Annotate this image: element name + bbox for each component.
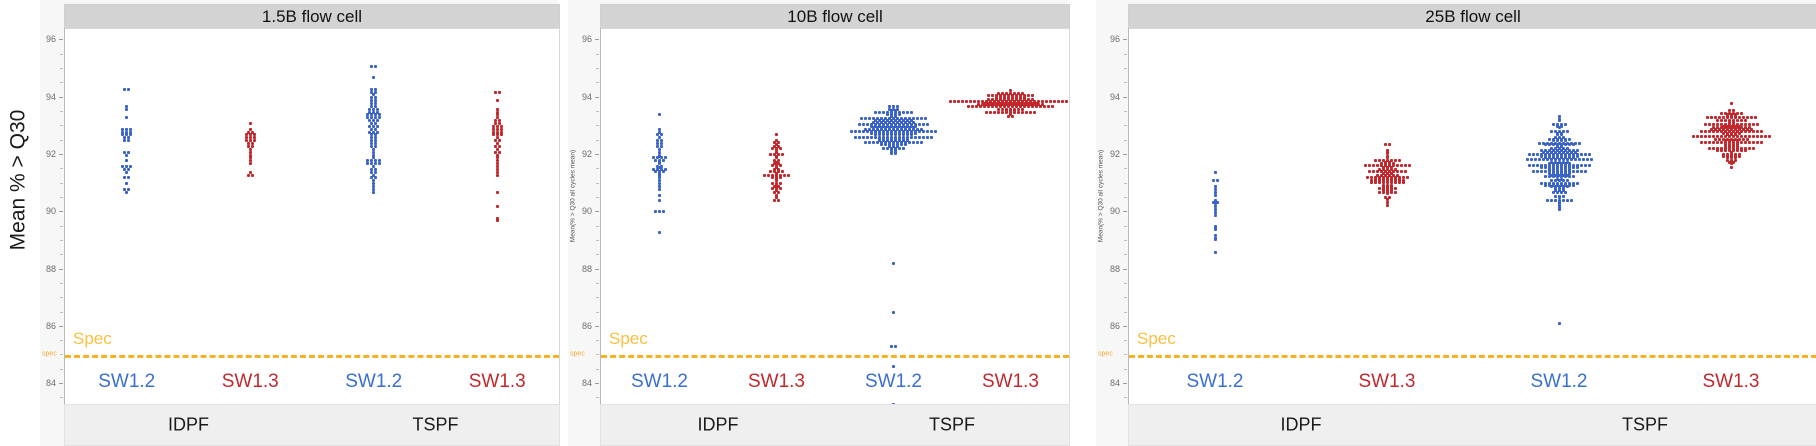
y-tick-mark (59, 97, 63, 98)
data-point (769, 170, 772, 173)
data-point (914, 136, 917, 139)
y-axis-title: Mean % > Q30 (0, 0, 40, 360)
data-point (1578, 158, 1581, 161)
y-tick-minor (596, 183, 599, 184)
data-point (1740, 149, 1743, 152)
data-point (496, 205, 499, 208)
y-tick-mark (1123, 326, 1127, 327)
data-point (494, 91, 497, 94)
data-point (886, 113, 889, 116)
data-point (1214, 238, 1217, 241)
data-point (1744, 130, 1747, 133)
data-point (1704, 141, 1707, 144)
y-tick-minor (596, 312, 599, 313)
data-point (1214, 171, 1217, 174)
data-point (1053, 100, 1056, 103)
y-tick-minor (60, 140, 63, 141)
y-tick-label: 84 (568, 378, 592, 388)
data-point (662, 170, 665, 173)
data-point (1748, 147, 1751, 150)
data-point (1544, 184, 1547, 187)
data-point (1562, 195, 1565, 198)
data-point (1742, 138, 1745, 141)
data-point (1730, 162, 1733, 165)
data-point (886, 147, 889, 150)
data-point (1700, 135, 1703, 138)
spec-label: Spec (609, 329, 648, 349)
data-point (1748, 130, 1751, 133)
y-tick-minor (60, 183, 63, 184)
y-tick-minor (1124, 283, 1127, 284)
panel-2: 10B flow cellSpecSW1.2SW1.3SW1.2SW1.3848… (568, 0, 1068, 446)
data-point (1544, 166, 1547, 169)
y-tick-mark (59, 39, 63, 40)
data-point (1760, 141, 1763, 144)
data-point (866, 123, 869, 126)
data-point (874, 111, 877, 114)
data-point (1368, 164, 1371, 167)
plot-area-3: SpecSW1.2SW1.3SW1.2SW1.3 (1128, 28, 1816, 406)
data-point (1710, 116, 1713, 119)
panel-title-2: 10B flow cell (600, 4, 1070, 29)
data-point (1750, 116, 1753, 119)
data-point (1578, 142, 1581, 145)
data-point (1756, 135, 1759, 138)
prep-label-tspf: TSPF (412, 415, 458, 436)
spec-axis-label: spec (570, 351, 585, 358)
data-point (127, 176, 130, 179)
data-point (1570, 199, 1573, 202)
data-point (1546, 199, 1549, 202)
group-label-tspf-sw1-3: SW1.3 (1702, 371, 1759, 393)
data-point (500, 133, 503, 136)
y-tick-minor (1124, 111, 1127, 112)
data-point (1536, 164, 1539, 167)
data-point (985, 111, 988, 114)
data-point (1552, 175, 1555, 178)
data-point (1692, 135, 1695, 138)
data-point (926, 123, 929, 126)
data-point (1746, 138, 1749, 141)
data-point (868, 117, 871, 120)
data-point (1564, 123, 1567, 126)
data-point (914, 132, 917, 135)
data-point (1760, 135, 1763, 138)
data-point (918, 136, 921, 139)
data-point (1558, 119, 1561, 122)
data-point (872, 141, 875, 144)
data-point (1558, 126, 1561, 129)
y-tick-minor (1124, 82, 1127, 83)
y-tick-mark (1123, 154, 1127, 155)
y-tick-minor (1124, 254, 1127, 255)
data-point (1712, 130, 1715, 133)
data-point (1716, 119, 1719, 122)
data-point (1550, 130, 1553, 133)
y-tick-label: 96 (40, 34, 56, 44)
data-point (658, 210, 661, 213)
data-point (866, 136, 869, 139)
group-label-idpf-sw1-3: SW1.3 (1358, 371, 1415, 393)
data-point (779, 187, 782, 190)
inner-axis-title-text: Mean(% > Q30 all cycles mean) (1098, 150, 1105, 242)
spec-line (1129, 355, 1816, 358)
data-point (1214, 194, 1217, 197)
data-point (1556, 191, 1559, 194)
data-point (862, 136, 865, 139)
data-point (1576, 155, 1579, 158)
data-point (787, 174, 790, 177)
data-point (1580, 153, 1583, 156)
data-point (1572, 175, 1575, 178)
data-point (378, 162, 381, 165)
data-point (991, 105, 994, 108)
data-point (1011, 115, 1014, 118)
data-point (987, 105, 990, 108)
plot-area-1: SpecSW1.2SW1.3SW1.2SW1.3 (64, 28, 560, 406)
data-point (658, 231, 661, 234)
y-tick-minor (60, 297, 63, 298)
data-point (1760, 130, 1763, 133)
y-tick-minor (60, 254, 63, 255)
data-point (1700, 130, 1703, 133)
data-point (1031, 94, 1034, 97)
spec-axis-label: spec (1098, 351, 1113, 358)
data-point (125, 171, 128, 174)
prep-label-idpf: IDPF (1280, 415, 1321, 436)
data-point (1404, 170, 1407, 173)
data-point (1706, 116, 1709, 119)
data-point (854, 136, 857, 139)
data-point (125, 159, 128, 162)
data-point (769, 153, 772, 156)
data-point (1752, 147, 1755, 150)
data-point (125, 191, 128, 194)
data-point (127, 139, 130, 142)
data-point (1722, 155, 1725, 158)
data-point (864, 141, 867, 144)
y-tick-mark (1123, 211, 1127, 212)
data-point (125, 182, 128, 185)
spec-label: Spec (73, 329, 112, 349)
data-point (1576, 182, 1579, 185)
y-tick-minor (1124, 397, 1127, 398)
data-point (1566, 199, 1569, 202)
data-point (1532, 170, 1535, 173)
data-point (1708, 141, 1711, 144)
data-point (918, 123, 921, 126)
y-axis-line (1128, 28, 1129, 406)
data-point (870, 136, 873, 139)
group-label-idpf-sw1-2: SW1.2 (98, 371, 155, 393)
data-point (1374, 159, 1377, 162)
data-point (1530, 158, 1533, 161)
data-point (878, 111, 881, 114)
y-tick-minor (596, 226, 599, 227)
data-point (989, 111, 992, 114)
data-point (496, 219, 499, 222)
data-point (1534, 158, 1537, 161)
inner-axis-title: Mean(% > Q30 all cycles mean) (568, 96, 578, 296)
data-point (1027, 105, 1030, 108)
y-tick-label: 86 (568, 321, 592, 331)
data-point (1568, 175, 1571, 178)
y-tick-minor (60, 397, 63, 398)
data-point (1370, 176, 1373, 179)
data-point (496, 174, 499, 177)
y-tick-label: 84 (40, 378, 56, 388)
data-point (868, 141, 871, 144)
data-point (1214, 251, 1217, 254)
data-point (662, 210, 665, 213)
y-tick-minor (60, 283, 63, 284)
data-point (1408, 164, 1411, 167)
data-point (1712, 141, 1715, 144)
data-point (1538, 158, 1541, 161)
data-point (1744, 141, 1747, 144)
data-point (1704, 123, 1707, 126)
y-tick-label: 96 (1096, 34, 1120, 44)
data-point (1696, 135, 1699, 138)
data-point (1704, 135, 1707, 138)
data-point (854, 130, 857, 133)
data-point (372, 191, 375, 194)
data-point (1544, 170, 1547, 173)
y-tick-mark (59, 211, 63, 212)
data-point (920, 141, 923, 144)
data-point (1544, 143, 1547, 146)
data-point (1400, 164, 1403, 167)
data-point (249, 122, 252, 125)
y-tick-mark (1123, 97, 1127, 98)
data-point (370, 65, 373, 68)
data-point (1540, 166, 1543, 169)
data-point (496, 191, 499, 194)
data-point (902, 147, 905, 150)
y-tick-minor (60, 54, 63, 55)
data-point (910, 111, 913, 114)
data-point (900, 143, 903, 146)
data-point (1047, 105, 1050, 108)
data-point (1382, 191, 1385, 194)
data-point (1388, 143, 1391, 146)
data-point (892, 311, 895, 314)
data-point (1057, 100, 1060, 103)
data-point (1752, 130, 1755, 133)
y-tick-minor (60, 226, 63, 227)
data-point (1372, 170, 1375, 173)
panel-title-1: 1.5B flow cell (64, 4, 560, 29)
data-point (898, 147, 901, 150)
data-point (862, 130, 865, 133)
y-tick-minor (60, 197, 63, 198)
data-point (1378, 181, 1381, 184)
data-point (763, 174, 766, 177)
data-point (1039, 105, 1042, 108)
y-tick-minor (60, 340, 63, 341)
y-tick-minor (1124, 54, 1127, 55)
prep-label-idpf: IDPF (697, 415, 738, 436)
data-point (1764, 135, 1767, 138)
data-point (876, 141, 879, 144)
data-point (890, 152, 893, 155)
data-point (1402, 181, 1405, 184)
data-point (1572, 184, 1575, 187)
data-point (1402, 176, 1405, 179)
data-point (1724, 119, 1727, 122)
y-tick-minor (596, 283, 599, 284)
data-point (1378, 191, 1381, 194)
data-point (1526, 158, 1529, 161)
data-point (654, 210, 657, 213)
y-tick-minor (596, 168, 599, 169)
y-tick-label: 96 (568, 34, 592, 44)
data-point (1716, 141, 1719, 144)
data-point (1368, 170, 1371, 173)
data-point (1736, 149, 1739, 152)
data-point (1390, 191, 1393, 194)
data-point (971, 105, 974, 108)
data-point (1372, 164, 1375, 167)
prep-strip-1: IDPFTSPF (64, 404, 560, 446)
data-point (880, 143, 883, 146)
y-tick-label: 84 (1096, 378, 1120, 388)
data-point (1566, 130, 1569, 133)
data-point (1730, 102, 1733, 105)
data-point (1546, 158, 1549, 161)
data-point (961, 100, 964, 103)
group-label-tspf-sw1-3: SW1.3 (469, 371, 526, 393)
data-point (1552, 191, 1555, 194)
inner-axis-title: Mean(% > Q30 all cycles mean) (1096, 96, 1106, 296)
data-point (870, 132, 873, 135)
data-point (1001, 111, 1004, 114)
data-point (1740, 119, 1743, 122)
data-point (1378, 187, 1381, 190)
data-point (884, 143, 887, 146)
data-point (1572, 143, 1575, 146)
data-point (1748, 141, 1751, 144)
data-point (957, 100, 960, 103)
y-tick-minor (60, 369, 63, 370)
data-point (922, 136, 925, 139)
data-point (492, 133, 495, 136)
data-point (654, 170, 657, 173)
data-point (1049, 100, 1052, 103)
group-label-tspf-sw1-3: SW1.3 (982, 371, 1039, 393)
spec-line (65, 355, 559, 358)
y-tick-mark (595, 211, 599, 212)
data-point (924, 117, 927, 120)
data-point (1572, 166, 1575, 169)
data-point (1398, 159, 1401, 162)
data-point (858, 130, 861, 133)
spec-line (601, 355, 1069, 358)
data-point (1564, 175, 1567, 178)
data-point (658, 194, 661, 197)
data-point (1069, 100, 1070, 103)
data-point (1712, 147, 1715, 150)
panel-3: 25B flow cellSpecSW1.2SW1.3SW1.2SW1.3848… (1096, 0, 1816, 446)
data-point (1720, 149, 1723, 152)
plot-area-2: SpecSW1.2SW1.3SW1.2SW1.3 (600, 28, 1070, 406)
data-point (127, 151, 130, 154)
data-point (1716, 130, 1719, 133)
data-point (374, 65, 377, 68)
data-point (987, 94, 990, 97)
data-point (251, 174, 254, 177)
data-point (1025, 111, 1028, 114)
y-tick-label: 86 (1096, 321, 1120, 331)
data-point (1021, 111, 1024, 114)
data-point (1590, 158, 1593, 161)
data-point (918, 130, 921, 133)
data-point (1214, 214, 1217, 217)
data-point (1045, 100, 1048, 103)
group-label-idpf-sw1-2: SW1.2 (631, 371, 688, 393)
data-point (949, 100, 952, 103)
data-point (1548, 175, 1551, 178)
y-tick-minor (596, 54, 599, 55)
y-tick-minor (596, 354, 599, 355)
data-point (1756, 123, 1759, 126)
y-tick-minor (60, 312, 63, 313)
data-point (953, 100, 956, 103)
data-point (1724, 149, 1727, 152)
prep-strip-2: IDPFTSPF (600, 404, 1070, 446)
data-point (1374, 181, 1377, 184)
data-point (1568, 138, 1571, 141)
data-point (1708, 147, 1711, 150)
data-point (1396, 164, 1399, 167)
data-point (374, 171, 377, 174)
data-point (1708, 135, 1711, 138)
y-tick-minor (1124, 197, 1127, 198)
data-point (1584, 170, 1587, 173)
data-point (930, 130, 933, 133)
data-point (894, 345, 897, 348)
data-point (975, 105, 978, 108)
data-point (1568, 143, 1571, 146)
data-point (1550, 199, 1553, 202)
data-point (781, 153, 784, 156)
data-point (1550, 185, 1553, 188)
group-label-idpf-sw1-3: SW1.3 (222, 371, 279, 393)
data-point (930, 136, 933, 139)
data-point (1720, 141, 1723, 144)
data-point (1566, 185, 1569, 188)
data-point (1576, 166, 1579, 169)
data-point (1542, 158, 1545, 161)
y-tick-label: 90 (40, 206, 56, 216)
y-tick-minor (60, 68, 63, 69)
data-point (850, 130, 853, 133)
y-tick-label: 92 (40, 149, 56, 159)
y-tick-minor (596, 82, 599, 83)
y-tick-minor (596, 68, 599, 69)
y-tick-minor (596, 197, 599, 198)
data-point (498, 91, 501, 94)
data-point (902, 111, 905, 114)
data-point (496, 99, 499, 102)
y-tick-minor (60, 82, 63, 83)
data-point (906, 111, 909, 114)
data-point (922, 130, 925, 133)
y-tick-minor (596, 111, 599, 112)
data-point (1031, 105, 1034, 108)
inner-axis-title-text: Mean(% > Q30 all cycles mean) (570, 150, 577, 242)
data-point (1718, 138, 1721, 141)
